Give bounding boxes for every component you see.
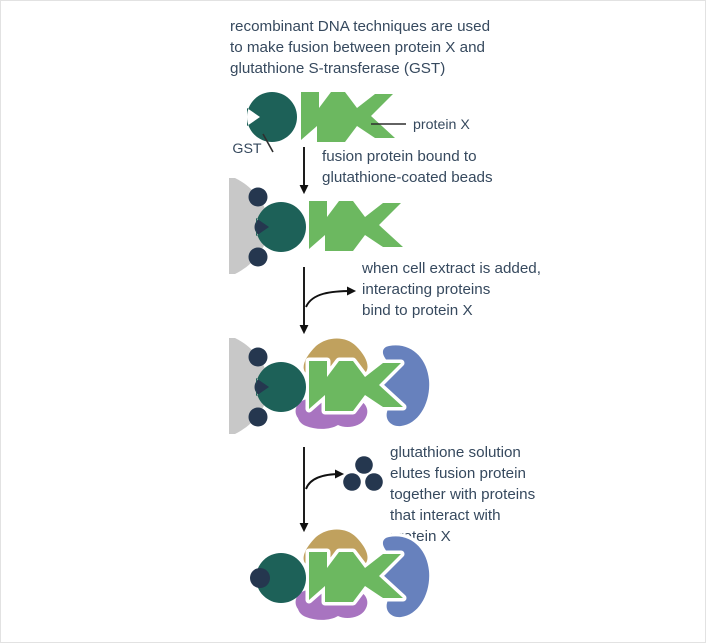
intro-caption-line-2: to make fusion between protein X and bbox=[230, 39, 485, 56]
step3-caption-line-2: elutes fusion protein bbox=[390, 465, 526, 482]
gst-domain-icon bbox=[247, 92, 297, 142]
protein-x-icon bbox=[309, 201, 403, 251]
step1-caption: fusion protein bound to glutathione-coat… bbox=[322, 148, 493, 186]
glutathione-dot-icon bbox=[355, 456, 373, 474]
intro-caption-line-3: glutathione S-transferase (GST) bbox=[230, 60, 445, 77]
step2-caption-line-1: when cell extract is added, bbox=[361, 260, 541, 277]
diagram-canvas: recombinant DNA techniques are used to m… bbox=[1, 1, 706, 643]
glutathione-dot-icon bbox=[365, 473, 383, 491]
step3-caption-line-3: together with proteins bbox=[390, 486, 536, 503]
intro-caption-line-1: recombinant DNA techniques are used bbox=[230, 18, 490, 35]
glutathione-dot-icon bbox=[249, 408, 268, 427]
glutathione-dot-icon bbox=[249, 248, 268, 267]
stage-4-eluted-complex bbox=[250, 530, 429, 620]
step1-caption-line-2: glutathione-coated beads bbox=[322, 169, 493, 186]
protein-x-icon bbox=[301, 92, 395, 142]
free-glutathione-group bbox=[343, 456, 383, 491]
glutathione-dot-icon bbox=[249, 348, 268, 367]
intro-caption: recombinant DNA techniques are used to m… bbox=[230, 18, 490, 77]
protein-x-label: protein X bbox=[413, 117, 470, 133]
branch-arrow-icon-1 bbox=[306, 291, 353, 307]
gst-label: GST bbox=[232, 141, 261, 157]
figure-panel: recombinant DNA techniques are used to m… bbox=[0, 0, 706, 643]
step3-caption-line-4: that interact with bbox=[390, 507, 501, 524]
step2-caption-line-3: bind to protein X bbox=[362, 302, 473, 319]
glutathione-dot-icon bbox=[343, 473, 361, 491]
step2-caption-line-2: interacting proteins bbox=[362, 281, 491, 298]
glutathione-dot-icon bbox=[249, 188, 268, 207]
stage-3-complex-on-bead bbox=[229, 338, 429, 434]
step2-caption: when cell extract is added, interacting … bbox=[361, 260, 541, 319]
branch-arrow-icon-2 bbox=[306, 474, 341, 489]
step1-caption-line-1: fusion protein bound to bbox=[322, 148, 477, 165]
step3-caption-line-1: glutathione solution bbox=[390, 444, 521, 461]
step3-caption: glutathione solution elutes fusion prote… bbox=[390, 444, 536, 545]
glutathione-dot-icon bbox=[250, 568, 270, 588]
